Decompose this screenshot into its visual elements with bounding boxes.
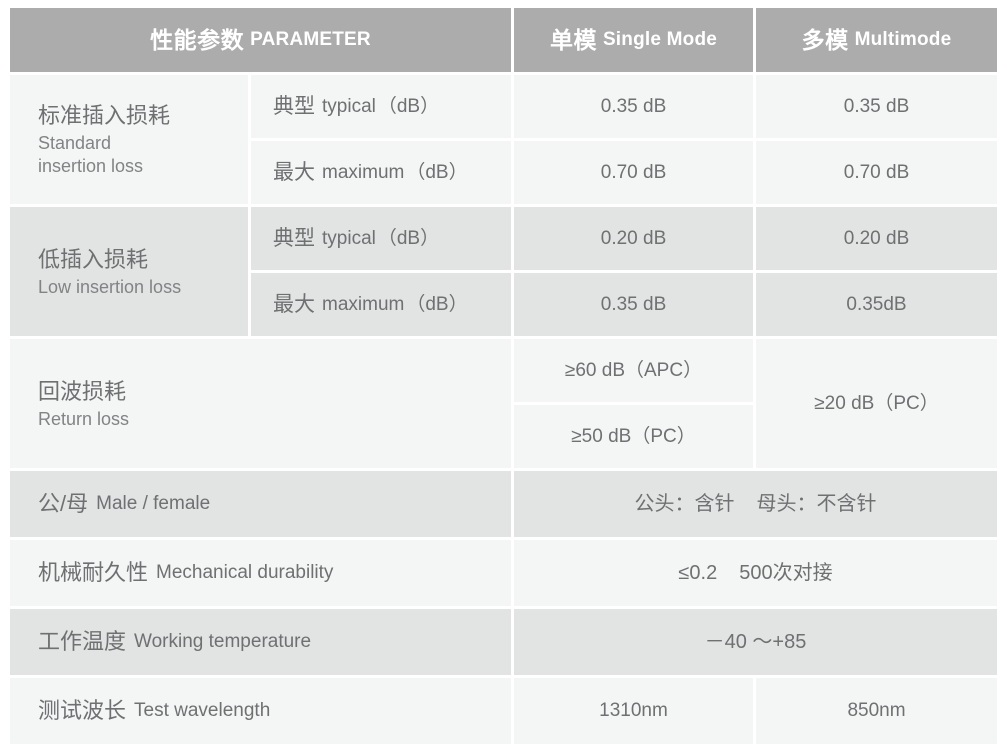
- group-subcolumn: 典型 typical （dB） 最大 maximum （dB）: [251, 75, 511, 204]
- table-group-standard-insertion-loss: 标准插入损耗 Standard insertion loss 典型 typica…: [10, 75, 997, 204]
- row-label-en: Mechanical durability: [156, 560, 333, 585]
- table-row-male-female: 公/母 Male / female 公头：含针 母头：不含针: [10, 471, 997, 537]
- table-row-mechanical-durability: 机械耐久性 Mechanical durability ≤0.2 500次对接: [10, 540, 997, 606]
- header-cell-multimode: 多模 Multimode: [756, 8, 997, 72]
- value-cell-multi: 0.20 dB: [756, 207, 997, 270]
- group-single-mode-column: 0.35 dB 0.70 dB: [514, 75, 753, 204]
- return-loss-single-mode-column: ≥60 dB（APC） ≥50 dB（PC）: [514, 339, 753, 468]
- sub-label-unit: （dB）: [406, 292, 467, 317]
- row-value-test-wavelength-single: 1310nm: [514, 678, 753, 744]
- group-label-return-loss: 回波损耗 Return loss: [10, 339, 511, 468]
- sub-label-en: typical: [322, 94, 376, 119]
- sub-label-unit: （dB）: [406, 160, 467, 185]
- row-label-cn: 工作温度: [38, 627, 126, 656]
- group-label-en-line1: Standard: [38, 132, 111, 156]
- row-label-en: Test wavelength: [134, 698, 270, 723]
- header-cell-single-mode: 单模 Single Mode: [514, 8, 753, 72]
- group-single-mode-column: 0.20 dB 0.35 dB: [514, 207, 753, 336]
- header-multi-cn: 多模: [802, 25, 849, 55]
- row-value-part-a: ≤0.2: [678, 560, 717, 586]
- value-cell-multi-pc: ≥20 dB（PC）: [756, 339, 997, 468]
- group-subcolumn: 典型 typical （dB） 最大 maximum （dB）: [251, 207, 511, 336]
- group-label-en-line1: Low insertion loss: [38, 276, 181, 300]
- row-label-male-female: 公/母 Male / female: [10, 471, 511, 537]
- group-label-cn: 标准插入损耗: [38, 100, 170, 132]
- header-single-en: Single Mode: [603, 27, 717, 52]
- row-label-en: Male / female: [96, 491, 210, 516]
- header-parameter-cn: 性能参数: [150, 25, 244, 55]
- row-value-part-a: 公头：含针: [635, 491, 735, 517]
- value-cell-single: 0.20 dB: [514, 207, 753, 270]
- table-group-return-loss: 回波损耗 Return loss ≥60 dB（APC） ≥50 dB（PC） …: [10, 339, 997, 468]
- row-label-cn: 测试波长: [38, 696, 126, 725]
- row-value-part-a: －40 ～+85: [705, 629, 807, 655]
- value-cell-single: 0.70 dB: [514, 141, 753, 204]
- sub-label-unit: （dB）: [378, 226, 439, 251]
- value-cell-multi: 0.70 dB: [756, 141, 997, 204]
- row-label-mechanical-durability: 机械耐久性 Mechanical durability: [10, 540, 511, 606]
- header-multi-en: Multimode: [855, 27, 952, 52]
- row-label-test-wavelength: 测试波长 Test wavelength: [10, 678, 511, 744]
- group-label-en-line2: insertion loss: [38, 155, 143, 179]
- header-single-cn: 单模: [550, 25, 597, 55]
- row-value-working-temperature: －40 ～+85: [514, 609, 997, 675]
- sub-label-cn: 最大: [273, 291, 315, 319]
- specification-table: 性能参数 PARAMETER 单模 Single Mode 多模 Multimo…: [10, 8, 997, 744]
- table-row: 最大 maximum （dB）: [251, 273, 511, 336]
- group-label-standard-insertion-loss: 标准插入损耗 Standard insertion loss: [10, 75, 248, 204]
- table-row-working-temperature: 工作温度 Working temperature －40 ～+85: [10, 609, 997, 675]
- value-cell-single-apc: ≥60 dB（APC）: [514, 339, 753, 402]
- sub-label-unit: （dB）: [378, 94, 439, 119]
- row-label-cn: 公/母: [38, 489, 88, 518]
- value-cell-multi: 0.35dB: [756, 273, 997, 336]
- row-label-cn: 机械耐久性: [38, 558, 148, 587]
- row-value-mechanical-durability: ≤0.2 500次对接: [514, 540, 997, 606]
- group-multimode-column: 0.20 dB 0.35dB: [756, 207, 997, 336]
- sub-label-en: maximum: [322, 292, 404, 317]
- table-row: 典型 typical （dB）: [251, 207, 511, 270]
- return-loss-multimode-column: ≥20 dB（PC）: [756, 339, 997, 468]
- group-label-en: Return loss: [38, 408, 129, 432]
- group-label-cn: 低插入损耗: [38, 244, 148, 276]
- value-cell-multi: 0.35 dB: [756, 75, 997, 138]
- group-label-low-insertion-loss: 低插入损耗 Low insertion loss: [10, 207, 248, 336]
- row-value-part-b: 500次对接: [739, 560, 832, 586]
- table-row-test-wavelength: 测试波长 Test wavelength 1310nm 850nm: [10, 678, 997, 744]
- value-cell-single: 0.35 dB: [514, 273, 753, 336]
- value-cell-single-pc: ≥50 dB（PC）: [514, 405, 753, 468]
- sub-label-cn: 典型: [273, 225, 315, 253]
- table-row: 最大 maximum （dB）: [251, 141, 511, 204]
- group-label-cn: 回波损耗: [38, 376, 126, 408]
- value-cell-single: 0.35 dB: [514, 75, 753, 138]
- sub-label-cn: 最大: [273, 159, 315, 187]
- table-group-low-insertion-loss: 低插入损耗 Low insertion loss 典型 typical （dB）…: [10, 207, 997, 336]
- sub-label-en: typical: [322, 226, 376, 251]
- sub-label-cn: 典型: [273, 93, 315, 121]
- row-value-male-female: 公头：含针 母头：不含针: [514, 471, 997, 537]
- row-value-part-b: 母头：不含针: [757, 491, 877, 517]
- sub-label-en: maximum: [322, 160, 404, 185]
- group-multimode-column: 0.35 dB 0.70 dB: [756, 75, 997, 204]
- header-parameter-en: PARAMETER: [250, 27, 371, 52]
- table-header-row: 性能参数 PARAMETER 单模 Single Mode 多模 Multimo…: [10, 8, 997, 72]
- row-label-working-temperature: 工作温度 Working temperature: [10, 609, 511, 675]
- row-label-en: Working temperature: [134, 629, 311, 654]
- header-cell-parameter: 性能参数 PARAMETER: [10, 8, 511, 72]
- row-value-test-wavelength-multi: 850nm: [756, 678, 997, 744]
- table-row: 典型 typical （dB）: [251, 75, 511, 138]
